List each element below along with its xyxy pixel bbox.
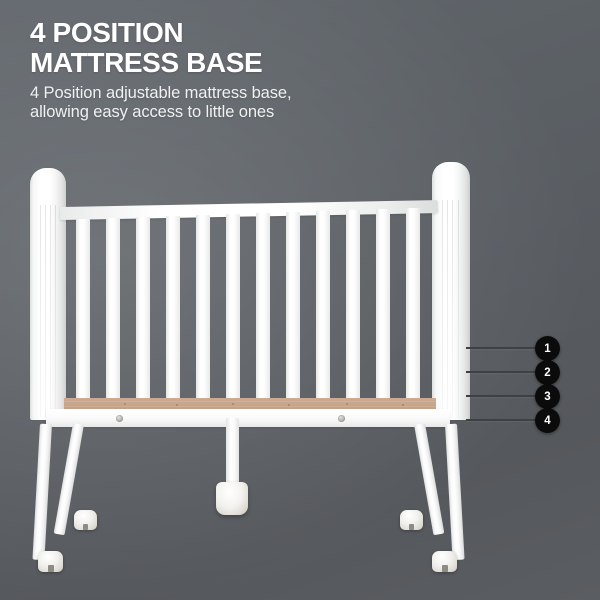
callout-badge-3-label: 3: [544, 391, 550, 403]
crib-slat: [316, 211, 330, 407]
crib-left-front-caster: [38, 551, 63, 572]
callout-badge-1-label: 1: [544, 343, 550, 355]
crib-center-support-post: [226, 418, 239, 486]
product-feature-image: 1 2 3 4 4 POSITION MATTRESS BASE 4 Posit…: [0, 0, 600, 600]
callout-badge-4-label: 4: [544, 415, 550, 427]
base-screw: [338, 415, 345, 422]
crib-slat: [376, 209, 390, 407]
crib-right-post-fluting: [440, 200, 463, 418]
crib-slat: [196, 215, 210, 407]
crib-right-front-leg: [445, 424, 465, 560]
base-screw: [116, 415, 123, 422]
callout-badge-4: 4: [535, 408, 560, 433]
subheading-line-2: allowing easy access to little ones: [30, 103, 460, 122]
crib-slat: [76, 219, 90, 407]
callout-badge-2-label: 2: [544, 367, 550, 379]
crib-left-back-caster: [74, 510, 97, 530]
subheading-line-1: 4 Position adjustable mattress base,: [30, 84, 460, 103]
crib-slat: [136, 217, 150, 407]
crib-slat: [286, 212, 300, 407]
crib-slat: [346, 210, 360, 407]
crib-slat: [256, 213, 270, 407]
crib-slat: [106, 218, 120, 407]
crib-right-front-caster: [432, 551, 457, 572]
callout-leader-line-3: [466, 395, 540, 397]
mattress-base-front-rail: [46, 409, 450, 427]
callout-leader-line-4: [466, 419, 540, 421]
callout-leader-line-2: [466, 371, 540, 373]
heading-line-2: MATTRESS BASE: [30, 48, 460, 78]
text-block: 4 POSITION MATTRESS BASE 4 Position adju…: [30, 18, 460, 123]
crib-left-front-leg: [32, 424, 52, 560]
callout-badge-3: 3: [535, 384, 560, 409]
callout-badge-2: 2: [535, 360, 560, 385]
crib-slat: [166, 216, 180, 407]
callout-badge-1: 1: [535, 336, 560, 361]
crib-slat: [226, 214, 240, 407]
heading-line-1: 4 POSITION: [30, 18, 460, 48]
callout-leader-line-1: [466, 347, 540, 349]
crib-left-post-fluting: [38, 205, 60, 417]
crib-center-support-foot: [216, 482, 248, 515]
crib-slat: [406, 208, 420, 407]
crib-right-back-caster: [400, 510, 423, 530]
